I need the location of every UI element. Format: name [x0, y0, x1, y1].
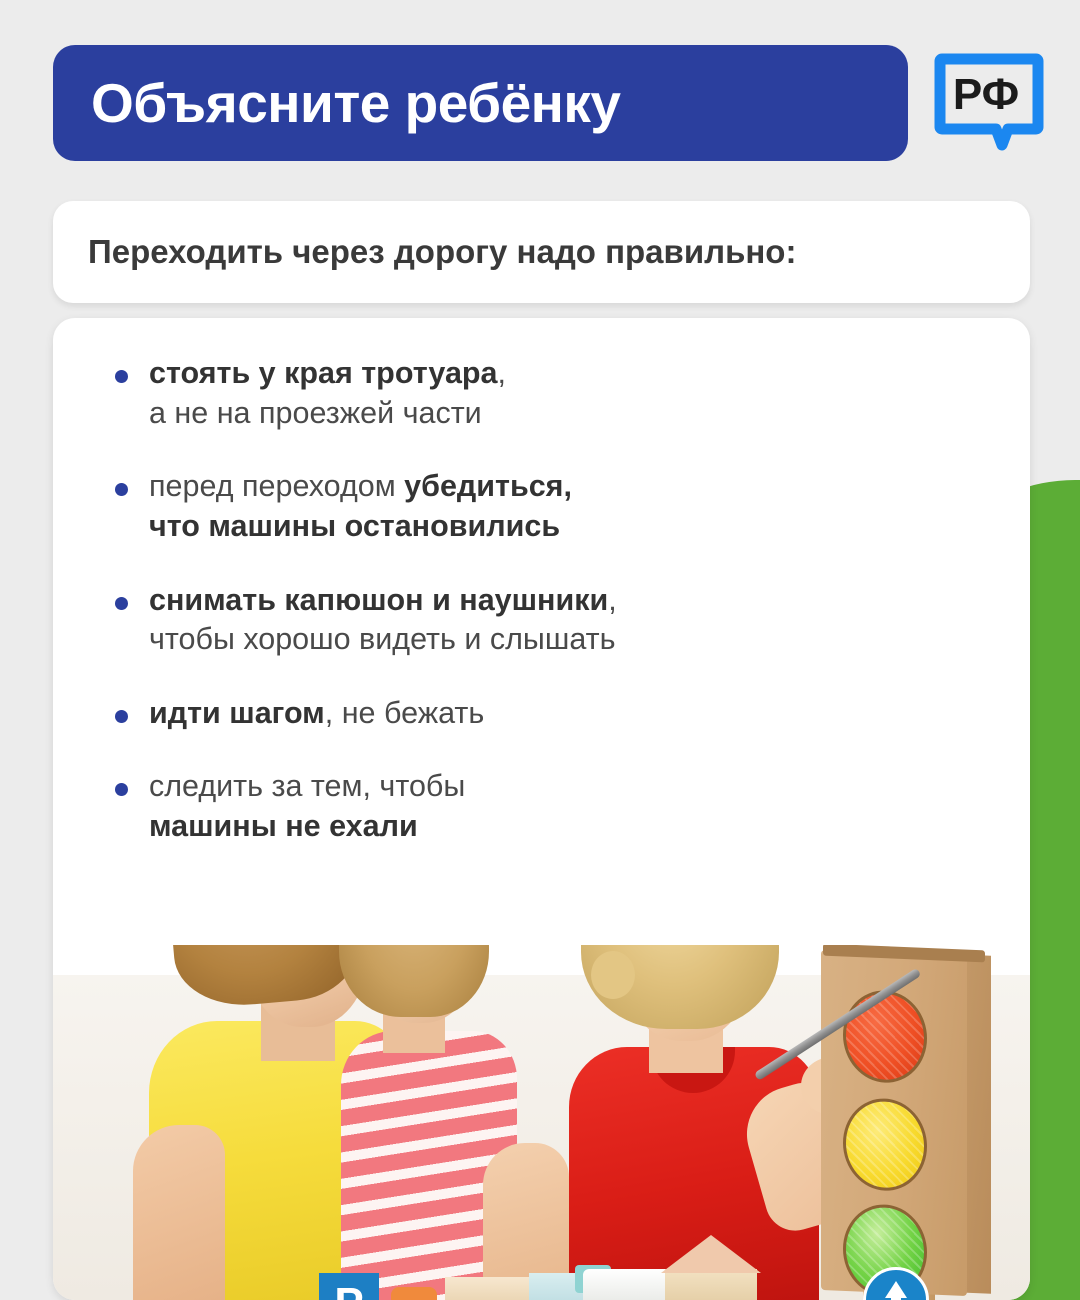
title-banner: Объясните ребёнку: [53, 45, 908, 161]
bullet-dot-icon: [115, 710, 128, 723]
list-item: стоять у края тротуара,а не на проезжей …: [53, 354, 1030, 433]
list-item-bold: убедиться,: [404, 469, 572, 503]
list-item-rest: чтобы хорошо видеть и слышать: [149, 622, 615, 656]
subtitle-text: Переходить через дорогу надо правильно:: [88, 233, 796, 271]
list-item-bold: идти шагом: [149, 696, 325, 730]
list-item-rest: а не на проезжей части: [149, 396, 482, 430]
toy-house-body: [665, 1269, 757, 1300]
rf-speech-bubble-logo: РФ: [930, 43, 1048, 163]
bullet-dot-icon: [115, 783, 128, 796]
toy-house-roof: [661, 1235, 761, 1273]
cardboard-traffic-light: [821, 953, 989, 1300]
list-item: следить за тем, чтобымашины не ехали: [53, 767, 1030, 846]
child-red-curl: [591, 951, 635, 999]
list-item-text: следить за тем, чтобымашины не ехали: [149, 767, 990, 846]
list-item-text: стоять у края тротуара,а не на проезжей …: [149, 354, 990, 433]
photo-children-traffic-light: P: [53, 945, 1030, 1300]
traffic-light-yellow-lamp-icon: [843, 1097, 927, 1193]
header: Объясните ребёнку РФ: [0, 0, 1080, 190]
parking-sign-icon: P: [319, 1273, 379, 1300]
list-item-text: снимать капюшон и наушники,чтобы хорошо …: [149, 581, 990, 660]
list-item-bold: снимать капюшон и наушники: [149, 583, 608, 617]
bullet-dot-icon: [115, 483, 128, 496]
list-item-bold-rest: машины не ехали: [149, 809, 418, 843]
list-item-bold-rest: что машины остановились: [149, 509, 560, 543]
list-item-tail: ,: [498, 356, 506, 390]
list-item-lead: перед переходом: [149, 469, 404, 503]
parking-sign-letter: P: [319, 1273, 379, 1300]
list-item: идти шагом, не бежать: [53, 694, 1030, 734]
content-card: стоять у края тротуара,а не на проезжей …: [53, 318, 1030, 1300]
traffic-light-body: [821, 950, 967, 1296]
rules-list: стоять у края тротуара,а не на проезжей …: [53, 318, 1030, 847]
toy-car: [583, 1269, 671, 1300]
list-item-text: перед переходом убедиться,что машины ост…: [149, 467, 990, 546]
toy-block-beige: [445, 1277, 537, 1300]
bullet-dot-icon: [115, 597, 128, 610]
list-item-text: идти шагом, не бежать: [149, 694, 990, 734]
list-item: перед переходом убедиться,что машины ост…: [53, 467, 1030, 546]
bullet-dot-icon: [115, 370, 128, 383]
list-item-lead: следить за тем, чтобы: [149, 769, 465, 803]
subtitle-card: Переходить через дорогу надо правильно:: [53, 201, 1030, 303]
photo-scene: P: [53, 945, 1030, 1300]
child-yellow-arm: [133, 1125, 225, 1300]
rf-logo-text: РФ: [953, 70, 1019, 119]
traffic-light-red-lamp-icon: [843, 989, 927, 1085]
list-item-tail: , не бежать: [325, 696, 485, 730]
page-title: Объясните ребёнку: [91, 76, 621, 131]
list-item: снимать капюшон и наушники,чтобы хорошо …: [53, 581, 1030, 660]
toy-block-orange: [391, 1287, 437, 1300]
list-item-bold: стоять у края тротуара: [149, 356, 498, 390]
list-item-tail: ,: [608, 583, 616, 617]
infographic-page: Объясните ребёнку РФ Переходить через до…: [0, 0, 1080, 1300]
